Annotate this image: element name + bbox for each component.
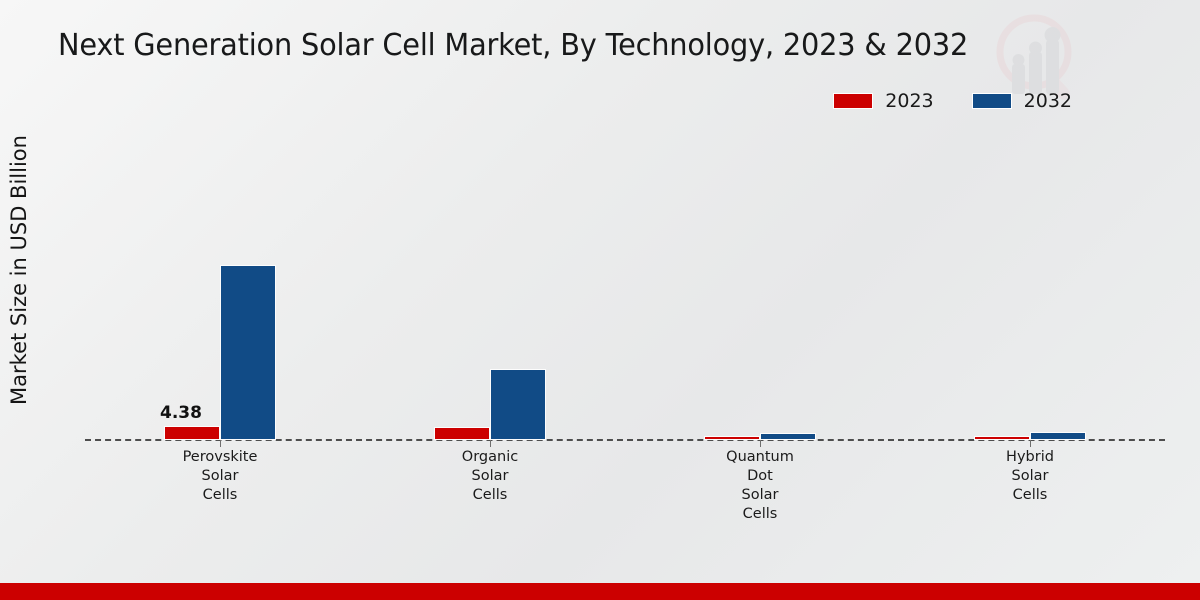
- bar-2032-3[interactable]: [760, 433, 816, 440]
- legend-swatch-2023: [833, 93, 873, 109]
- x-axis-tick: [220, 440, 221, 447]
- bar-group: [704, 130, 816, 440]
- chart-legend: 2023 2032: [833, 90, 1072, 112]
- y-axis-title: Market Size in USD Billion: [0, 0, 40, 600]
- x-axis-tick: [1030, 440, 1031, 447]
- category-label-1: Perovskite Solar Cells: [140, 448, 300, 505]
- bar-2023-3[interactable]: [704, 436, 760, 440]
- legend-label-2032: 2032: [1024, 90, 1072, 112]
- x-axis-tick: [760, 440, 761, 447]
- x-axis-tick: [490, 440, 491, 447]
- bar-2023-4[interactable]: [974, 436, 1030, 440]
- y-axis-title-text: Market Size in USD Billion: [7, 135, 31, 405]
- bar-2023-2[interactable]: [434, 427, 490, 440]
- chart-title: Next Generation Solar Cell Market, By Te…: [58, 28, 968, 63]
- legend-label-2023: 2023: [885, 90, 933, 112]
- bar-2032-2[interactable]: [490, 369, 546, 440]
- bar-2032-4[interactable]: [1030, 432, 1086, 440]
- legend-item-2023[interactable]: 2023: [833, 90, 933, 112]
- footer-accent-bar: [0, 583, 1200, 600]
- bar-group: [974, 130, 1086, 440]
- bar-group: 4.38: [164, 130, 276, 440]
- legend-swatch-2032: [972, 93, 1012, 109]
- bar-group: [434, 130, 546, 440]
- chart-page: Next Generation Solar Cell Market, By Te…: [0, 0, 1200, 600]
- bar-value-label: 4.38: [160, 403, 202, 423]
- bar-2032-1[interactable]: [220, 265, 276, 440]
- legend-item-2032[interactable]: 2032: [972, 90, 1072, 112]
- plot-area: 4.38 Perovskite Solar CellsOrganic Solar…: [85, 130, 1165, 440]
- category-label-4: Hybrid Solar Cells: [950, 448, 1110, 505]
- category-label-3: Quantum Dot Solar Cells: [680, 448, 840, 524]
- bar-2023-1[interactable]: [164, 426, 220, 440]
- category-label-2: Organic Solar Cells: [410, 448, 570, 505]
